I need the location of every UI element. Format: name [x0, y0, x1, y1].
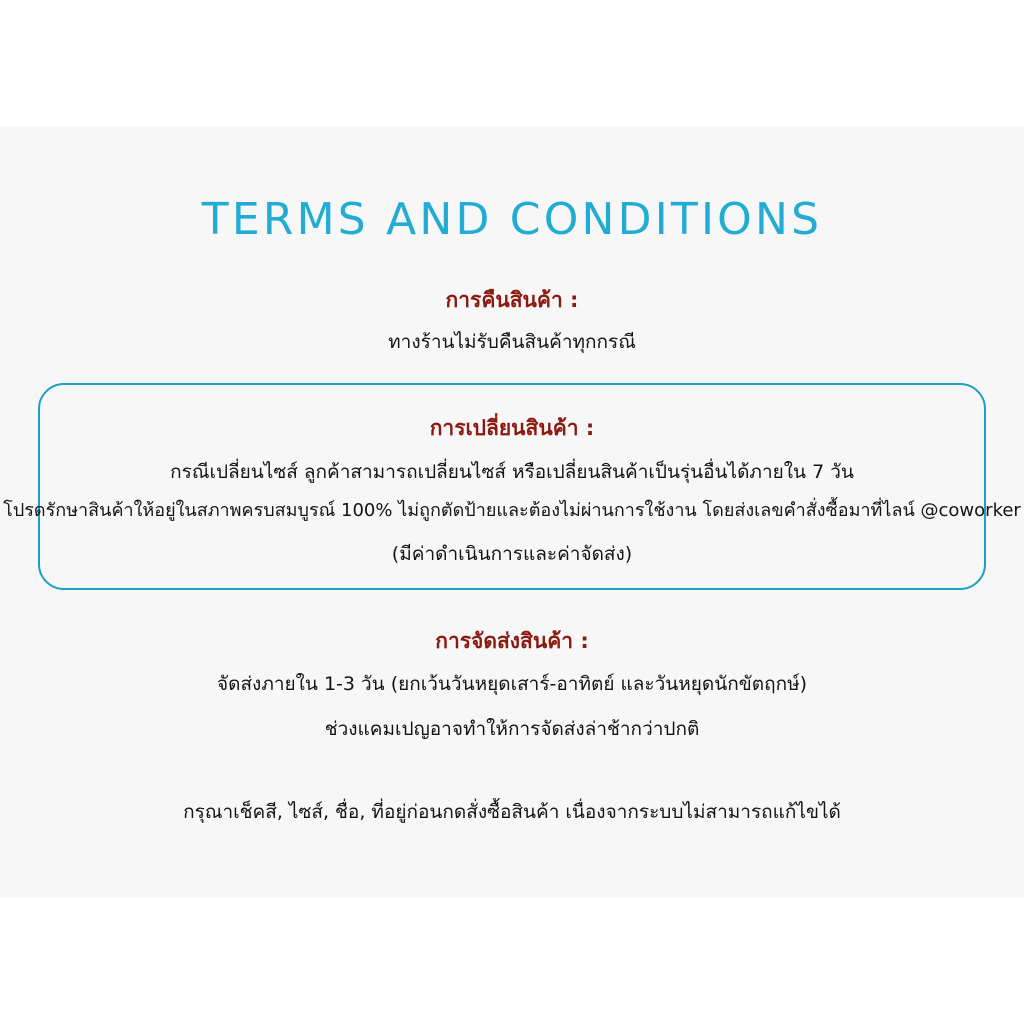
exchange-section-line-3: (มีค่าดำเนินการและค่าจัดส่ง) [0, 540, 1024, 568]
page-title: TERMS AND CONDITIONS [0, 192, 1024, 248]
shipping-section-heading: การจัดส่งสินค้า : [0, 627, 1024, 655]
returns-section-heading: การคืนสินค้า : [0, 286, 1024, 314]
shipping-section-line-2: ช่วงแคมเปญอาจทำให้การจัดส่งล่าช้ากว่าปกต… [0, 715, 1024, 743]
returns-section-line-1: ทางร้านไม่รับคืนสินค้าทุกกรณี [0, 328, 1024, 356]
footer-note-line-1: กรุณาเช็คสี, ไซส์, ชื่อ, ที่อยู่ก่อนกดสั… [0, 798, 1024, 826]
exchange-section-heading: การเปลี่ยนสินค้า : [0, 414, 1024, 442]
exchange-section-line-1: กรณีเปลี่ยนไซส์ ลูกค้าสามารถเปลี่ยนไซส์ … [0, 458, 1024, 486]
exchange-section-line-2: โปรดรักษาสินค้าให้อยู่ในสภาพครบสมบูรณ์ 1… [0, 497, 1024, 525]
shipping-section-line-1: จัดส่งภายใน 1-3 วัน (ยกเว้นวันหยุดเสาร์-… [0, 670, 1024, 698]
terms-and-conditions-page: TERMS AND CONDITIONS การคืนสินค้า : ทางร… [0, 0, 1024, 1024]
